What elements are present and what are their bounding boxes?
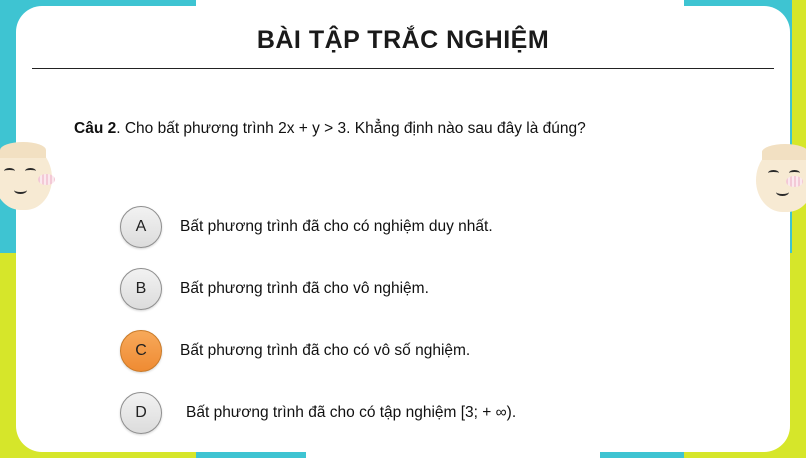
answer-option-b[interactable]: B Bất phương trình đã cho vô nghiệm. [120,258,770,320]
answer-text-d: Bất phương trình đã cho có tập nghiệm [3… [186,404,516,422]
eye-right-1-icon [768,170,779,176]
eye-left-1-icon [4,168,15,174]
character-face-right [756,146,806,212]
answer-key-d[interactable]: D [120,392,162,434]
blush-left-icon [38,174,55,185]
title-divider [32,68,774,69]
character-face-left [0,144,52,210]
mouth-right-icon [776,188,789,196]
mouth-left-icon [14,186,27,194]
answer-text-b: Bất phương trình đã cho vô nghiệm. [180,280,429,298]
answer-option-d[interactable]: D Bất phương trình đã cho có tập nghiệm … [120,382,770,444]
answer-key-b[interactable]: B [120,268,162,310]
answer-text-a: Bất phương trình đã cho có nghiệm duy nh… [180,218,493,236]
answer-key-a[interactable]: A [120,206,162,248]
answer-key-c[interactable]: C [120,330,162,372]
page-title: BÀI TẬP TRẮC NGHIỆM [16,26,790,55]
answer-option-c[interactable]: C Bất phương trình đã cho có vô số nghiệ… [120,320,770,382]
answer-option-a[interactable]: A Bất phương trình đã cho có nghiệm duy … [120,196,770,258]
blush-right-icon [786,176,803,187]
content-card: BÀI TẬP TRẮC NGHIỆM Câu 2. Cho bất phươn… [16,6,790,452]
answer-list: A Bất phương trình đã cho có nghiệm duy … [120,196,770,444]
slide-root: BÀI TẬP TRẮC NGHIỆM Câu 2. Cho bất phươn… [0,0,806,458]
question-label: Câu 2 [74,120,116,137]
answer-text-c: Bất phương trình đã cho có vô số nghiệm. [180,342,470,360]
hair-right-icon [762,144,806,160]
question-text: Câu 2. Cho bất phương trình 2x + y > 3. … [74,119,774,140]
background-strip-lime-top-right [792,0,806,253]
hair-left-icon [0,142,46,158]
eye-left-2-icon [25,168,36,174]
question-body: . Cho bất phương trình 2x + y > 3. Khẳng… [116,120,586,137]
